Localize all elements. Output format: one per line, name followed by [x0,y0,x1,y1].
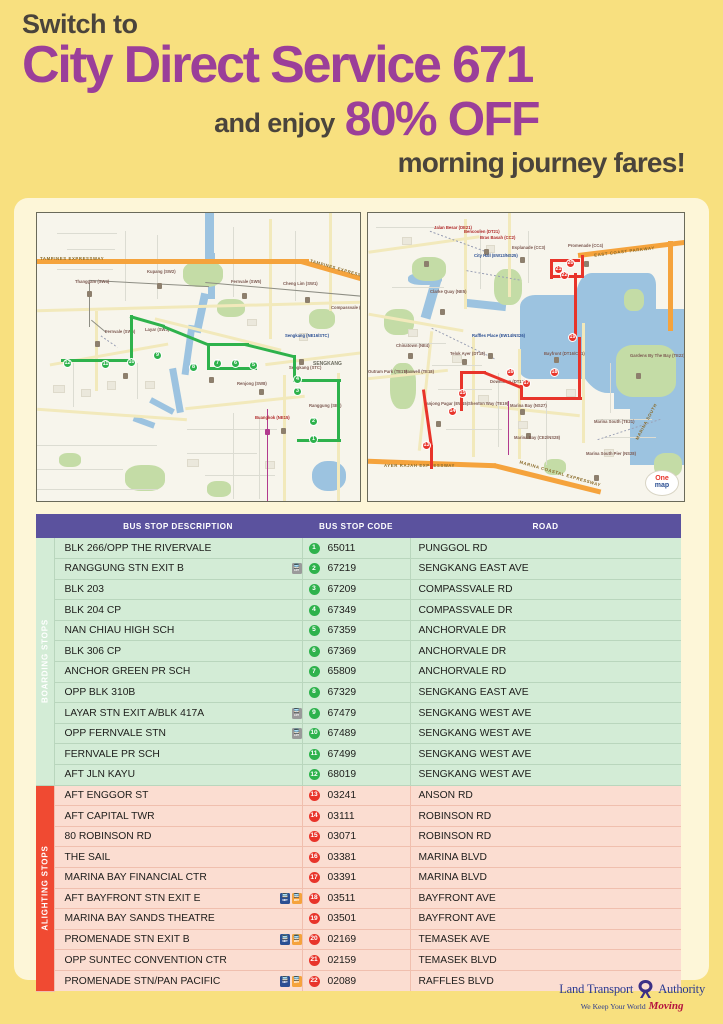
cell-bus-stop-code: 467349 [302,600,410,621]
cell-bus-stop-description: AFT CAPITAL TWR [54,806,302,827]
bus-stop-code-text: 03511 [328,893,356,904]
bus-stop-code-text: 68019 [328,769,357,780]
bus-stop-description-text: PROMENADE STN EXIT B [65,934,277,945]
maps-container: TAMPINES EXPRESSWAY TAMPINES EXPRESSWAY [36,212,687,502]
lrt-station-icon: 🚍LRT [292,563,302,574]
bus-stop-description-text: BLK 203 [65,584,302,595]
cell-bus-stop-description: AFT JLN KAYU [54,765,302,786]
stop-number-badge: 4 [309,605,320,616]
map-marker-19[interactable]: 19 [568,333,577,342]
table-body: BOARDING STOPSBLK 266/OPP THE RIVERVALE1… [36,538,681,991]
stop-number-badge: 8 [309,687,320,698]
table-row[interactable]: BLK 204 CP467349COMPASSVALE DR [36,600,681,621]
bus-stop-description-text: 80 ROBINSON RD [65,831,302,842]
table-row[interactable]: FERNVALE PR SCH1167499SENGKANG WEST AVE [36,744,681,765]
map-left-station-buangkok: Buangkok (NE15) [255,415,290,420]
map-marker-15[interactable]: 15 [458,389,467,398]
cell-bus-stop-description: PROMENADE STN/PAN PACIFIC🚍MRT🚍MRT [54,970,302,991]
onemap-logo-line-2: map [655,483,669,490]
cell-road: ROBINSON RD [410,826,681,847]
map-base-left: TAMPINES EXPRESSWAY TAMPINES EXPRESSWAY [37,213,360,501]
bus-stop-description-text: OPP SUNTEC CONVENTION CTR [65,955,302,966]
stop-number-badge: 19 [309,913,320,924]
lta-tagline-script: Moving [649,1000,684,1012]
bus-stop-code-text: 67489 [328,728,357,739]
cell-bus-stop-description: FERNVALE PR SCH [54,744,302,765]
cell-bus-stop-description: BLK 203 [54,579,302,600]
lta-name-right: Authority [658,982,705,997]
cell-road: ANCHORVALE RD [410,662,681,683]
header-bus-stop-description: BUS STOP DESCRIPTION [54,514,302,538]
map-left-station-sengkang: Sengkang (NE16/STC) [285,333,329,338]
bus-stop-description-text: ANCHOR GREEN PR SCH [65,666,302,677]
map-marker-13[interactable]: 13 [422,441,431,450]
cell-bus-stop-code: 1703391 [302,868,410,889]
cell-road: SENGKANG WEST AVE [410,744,681,765]
stop-number-badge: 3 [309,584,320,595]
bus-stop-code-text: 03381 [328,852,357,863]
map-marker-1[interactable]: 1 [309,435,318,444]
map-marker-14[interactable]: 14 [448,407,457,416]
table-row[interactable]: OPP FERNVALE STN🚍LRT1067489SENGKANG WEST… [36,723,681,744]
map-left-station-thanggam: Thanggam (SW4) [75,279,109,284]
map-marker-20[interactable]: 20 [566,259,575,268]
map-marker-10[interactable]: 10 [127,358,136,367]
cell-bus-stop-code: 1403111 [302,806,410,827]
cell-bus-stop-code: 2202089 [302,970,410,991]
table-row[interactable]: 80 ROBINSON RD1503071ROBINSON RD [36,826,681,847]
map-right-station-shenton-way: Shenton Way (TE19) [468,401,508,406]
cell-bus-stop-code: 765809 [302,662,410,683]
table-row[interactable]: OPP SUNTEC CONVENTION CTR2102159TEMASEK … [36,950,681,971]
cell-bus-stop-description: BLK 266/OPP THE RIVERVALE [54,538,302,559]
stop-number-badge: 11 [309,749,320,760]
bus-stop-code-text: 67219 [328,563,357,574]
headline-service-title: City Direct Service 671 [22,39,701,91]
ccl-station-icon: 🚍MRT [292,976,302,987]
map-alighting-marina-bay[interactable]: EAST COAST PARKWAY AYER RAJAH EXPRESSWAY… [367,212,685,502]
map-right-station-maxwell: Maxwell (TE18) [404,369,434,374]
cell-road: ROBINSON RD [410,806,681,827]
map-marker-5[interactable]: 5 [249,361,258,370]
stop-number-badge: 14 [309,811,320,822]
stop-number-badge: 18 [309,893,320,904]
cell-bus-stop-code: 367209 [302,579,410,600]
table-row[interactable]: BOARDING STOPSBLK 266/OPP THE RIVERVALE1… [36,538,681,559]
bus-stop-code-text: 02159 [328,955,357,966]
bus-stop-code-text: 03391 [328,872,357,883]
map-left-station-cheng-lim: Cheng Lim (SW1) [283,281,318,286]
map-marker-8[interactable]: 8 [189,363,198,372]
map-right-station-bencoolen: Bencoolen (DT21) [464,229,500,234]
stop-number-badge: 12 [309,769,320,780]
map-right-station-marina-bay-2: Marina Bay (CE2/NS28) [514,435,560,440]
mrt-station-icon: 🚍MRT [280,893,290,904]
header-road: ROAD [410,514,681,538]
map-marker-4[interactable]: 4 [293,375,302,384]
map-marker-6[interactable]: 6 [231,359,240,368]
bus-stop-code-text: 67499 [328,749,357,760]
cell-road: ANSON RD [410,785,681,806]
cell-bus-stop-code: 967479 [302,703,410,724]
map-right-station-outram-park: Outram Park (TE17) [368,369,407,374]
bus-stop-description-text: BLK 306 CP [65,646,302,657]
cell-bus-stop-description: RANGGUNG STN EXIT B🚍LRT [54,559,302,580]
map-marker-17[interactable]: 17 [522,379,531,388]
bus-stop-code-text: 67349 [328,605,357,616]
cell-road: MARINA BLVD [410,868,681,889]
bus-stop-code-text: 67329 [328,687,357,698]
rail-icons: 🚍LRT [292,708,302,719]
cell-bus-stop-code: 1268019 [302,765,410,786]
cell-bus-stop-description: OPP SUNTEC CONVENTION CTR [54,950,302,971]
group-band-board: BOARDING STOPS [36,538,54,785]
bus-stop-description-text: AFT JLN KAYU [65,769,302,780]
map-right-station-city-hall: City Hall (EW13/NS25) [474,253,518,258]
stop-number-badge: 7 [309,666,320,677]
lrt-station-icon: 🚍LRT [292,728,302,739]
table-row[interactable]: AFT BAYFRONT STN EXIT E🚍MRT🚍MRT1803511BA… [36,888,681,909]
table-row[interactable]: AFT CAPITAL TWR1403111ROBINSON RD [36,806,681,827]
bus-stop-code-text: 67209 [328,584,357,595]
map-right-station-clarke-quay: Clarke Quay (NE5) [430,289,467,294]
map-marker-16[interactable]: 16 [506,368,515,377]
bus-stop-description-text: MARINA BAY FINANCIAL CTR [65,872,302,883]
cell-bus-stop-code: 1303241 [302,785,410,806]
cell-bus-stop-description: THE SAIL [54,847,302,868]
map-right-station-marina-south: Marina South (TE21) [594,419,634,424]
cell-bus-stop-code: 1903501 [302,909,410,930]
group-band-alight: ALIGHTING STOPS [36,785,54,991]
headline-discount: 80% OFF [345,97,539,143]
map-left-expressway-label-1: TAMPINES EXPRESSWAY [40,256,104,261]
group-band-label: ALIGHTING STOPS [40,845,49,930]
cell-road: SENGKANG EAST AVE [410,682,681,703]
cell-bus-stop-code: 165011 [302,538,410,559]
cell-road: COMPASSVALE DR [410,600,681,621]
cell-bus-stop-code: 567359 [302,620,410,641]
map-right-station-chinatown: Chinatown (NE4) [396,343,430,348]
map-right-station-promenade: Promenade (CC4) [568,243,603,248]
stop-number-badge: 2 [309,563,320,574]
map-marker-11[interactable]: 11 [101,360,110,369]
table-row[interactable]: NAN CHIAU HIGH SCH567359ANCHORVALE DR [36,620,681,641]
cell-bus-stop-description: BLK 306 CP [54,641,302,662]
map-marker-12[interactable]: 12 [63,359,72,368]
cell-bus-stop-description: AFT ENGGOR ST [54,785,302,806]
header-bus-stop-code: BUS STOP CODE [302,514,410,538]
bus-stop-description-text: BLK 204 CP [65,605,302,616]
headline-line-1: Switch to [22,10,701,38]
bus-stop-description-text: OPP BLK 310B [65,687,302,698]
cell-bus-stop-code: 2102159 [302,950,410,971]
map-right-station-raffles-place: Raffles Place (EW14/NS26) [472,333,525,338]
ccl-station-icon: 🚍MRT [292,893,302,904]
bus-stop-code-text: 65011 [328,543,356,554]
cell-bus-stop-description: MARINA BAY FINANCIAL CTR [54,868,302,889]
bus-stop-description-text: BLK 266/OPP THE RIVERVALE [65,543,302,554]
stop-number-badge: 17 [309,872,320,883]
rail-icons: 🚍MRT🚍MRT [280,976,302,987]
cell-bus-stop-description: NAN CHIAU HIGH SCH [54,620,302,641]
cell-road: SENGKANG WEST AVE [410,703,681,724]
cell-road: SENGKANG EAST AVE [410,559,681,580]
cell-bus-stop-code: 1167499 [302,744,410,765]
map-marker-7[interactable]: 7 [213,359,222,368]
table-row[interactable]: AFT JLN KAYU1268019SENGKANG WEST AVE [36,765,681,786]
table-header-row: BUS STOP DESCRIPTION BUS STOP CODE ROAD [36,514,681,538]
bus-stop-table-wrapper: BUS STOP DESCRIPTION BUS STOP CODE ROAD … [36,514,681,992]
table-row[interactable]: BLK 203367209COMPASSVALE RD [36,579,681,600]
lta-ribbon-icon [637,979,654,999]
rail-icons: 🚍LRT [292,728,302,739]
bus-stop-description-text: THE SAIL [65,852,302,863]
stop-number-badge: 20 [309,934,320,945]
stop-number-badge: 5 [309,625,320,636]
map-base-right: EAST COAST PARKWAY AYER RAJAH EXPRESSWAY… [368,213,684,501]
bus-stop-description-text: RANGGUNG STN EXIT B [65,563,288,574]
stop-number-badge: 1 [309,543,320,554]
lta-logo-row: Land Transport Authority [559,979,705,999]
cell-bus-stop-code: 1067489 [302,723,410,744]
map-left-station-renjong: Renjong (SW8) [237,381,267,386]
rail-icons: 🚍LRT [292,563,302,574]
bus-stop-code-text: 67479 [328,708,357,719]
cell-bus-stop-code: 867329 [302,682,410,703]
stop-number-badge: 9 [309,708,320,719]
rail-icons: 🚍MRT🚍MRT [280,893,302,904]
table-row[interactable]: ALIGHTING STOPSAFT ENGGOR ST1303241ANSON… [36,785,681,806]
map-right-station-gardens-by-the-bay: Gardens By The Bay (TE22) [630,353,685,358]
cell-bus-stop-description: 80 ROBINSON RD [54,826,302,847]
header-spacer [36,514,54,538]
bus-stop-code-text: 67359 [328,625,357,636]
onemap-watermark: One map [645,470,679,496]
bus-stop-code-text: 03501 [328,913,357,924]
lta-tagline: We Keep Your World Moving [581,1000,684,1012]
bus-stop-code-text: 03111 [328,811,355,822]
bus-stop-code-text: 67369 [328,646,357,657]
bus-stop-code-text: 65809 [328,666,357,677]
cell-bus-stop-code: 1503071 [302,826,410,847]
table-row[interactable]: RANGGUNG STN EXIT B🚍LRT267219SENGKANG EA… [36,559,681,580]
map-marker-3[interactable]: 3 [293,387,302,396]
map-left-station-compassvale: Compassvale (SE1) [331,305,361,310]
cell-bus-stop-code: 1603381 [302,847,410,868]
cell-bus-stop-description: MARINA BAY SANDS THEATRE [54,909,302,930]
stop-number-badge: 10 [309,728,320,739]
bus-stop-description-text: OPP FERNVALE STN [65,728,288,739]
map-marker-18[interactable]: 18 [550,368,559,377]
map-boarding-sengkang[interactable]: TAMPINES EXPRESSWAY TAMPINES EXPRESSWAY [36,212,361,502]
lta-name-left: Land Transport [559,982,633,997]
bus-stop-description-text: NAN CHIAU HIGH SCH [65,625,302,636]
cell-bus-stop-code: 1803511 [302,888,410,909]
bus-stop-code-text: 03071 [328,831,357,842]
map-marker-22[interactable]: 22 [560,271,569,280]
map-right-expressway-aye: AYER RAJAH EXPRESSWAY [384,463,455,468]
cell-bus-stop-description: BLK 204 CP [54,600,302,621]
stop-number-badge: 13 [309,790,320,801]
stop-number-badge: 21 [309,955,320,966]
map-right-station-bras-basah: Bras Basah (CC2) [480,235,515,240]
table-row[interactable]: THE SAIL1603381MARINA BLVD [36,847,681,868]
headline-line-4: morning journey fares! [22,147,701,179]
table-head: BUS STOP DESCRIPTION BUS STOP CODE ROAD [36,514,681,538]
cell-road: ANCHORVALE DR [410,641,681,662]
map-marker-9[interactable]: 9 [153,351,162,360]
table-row[interactable]: BLK 306 CP667369ANCHORVALE DR [36,641,681,662]
map-left-station-fernvale: Fernvale (SW5) [231,279,261,284]
group-band-label: BOARDING STOPS [40,619,49,703]
cell-road: MARINA BLVD [410,847,681,868]
table-row[interactable]: MARINA BAY SANDS THEATRE1903501BAYFRONT … [36,909,681,930]
mrt-station-icon: 🚍MRT [280,976,290,987]
map-marker-2[interactable]: 2 [309,417,318,426]
lta-tagline-plain: We Keep Your World [581,1002,646,1011]
bus-stop-description-text: AFT BAYFRONT STN EXIT E [65,893,277,904]
cell-road: COMPASSVALE RD [410,579,681,600]
cell-bus-stop-description: PROMENADE STN EXIT B🚍MRT🚍MRT [54,929,302,950]
cell-road: TEMASEK AVE [410,929,681,950]
bus-stop-code-text: 02169 [328,934,357,945]
cell-road: BAYFRONT AVE [410,888,681,909]
lta-logo: Land Transport Authority We Keep Your Wo… [559,979,705,1012]
lrt-station-icon: 🚍LRT [292,708,302,719]
bus-stop-description-text: PROMENADE STN/PAN PACIFIC [65,976,277,987]
mrt-station-icon: 🚍MRT [280,934,290,945]
cell-road: ANCHORVALE DR [410,620,681,641]
cell-bus-stop-description: ANCHOR GREEN PR SCH [54,662,302,683]
table-row[interactable]: OPP BLK 310B867329SENGKANG EAST AVE [36,682,681,703]
cell-bus-stop-description: AFT BAYFRONT STN EXIT E🚍MRT🚍MRT [54,888,302,909]
bus-stop-description-text: AFT CAPITAL TWR [65,811,302,822]
map-right-station-telok-ayer: Telok Ayer (DT18) [450,351,485,356]
map-left-station-kupang: Kupang (SW2) [147,269,176,274]
stop-number-badge: 22 [309,976,320,987]
stop-number-badge: 6 [309,646,320,657]
map-left-region-label: SENGKANG [313,361,342,367]
map-right-station-marina-south-pier: Marina South Pier (NS28) [586,451,636,456]
map-right-station-marina-bay: Marina Bay (NS27) [510,403,547,408]
stop-number-badge: 15 [309,831,320,842]
cell-bus-stop-description: LAYAR STN EXIT A/BLK 417A🚍LRT [54,703,302,724]
cell-bus-stop-description: OPP BLK 310B [54,682,302,703]
poster-header: Switch to City Direct Service 671 and en… [0,0,723,179]
bus-stop-table: BUS STOP DESCRIPTION BUS STOP CODE ROAD … [36,514,681,992]
table-row[interactable]: LAYAR STN EXIT A/BLK 417A🚍LRT967479SENGK… [36,703,681,724]
headline-discount-row: and enjoy 80% OFF [22,97,701,143]
bus-stop-description-text: LAYAR STN EXIT A/BLK 417A [65,708,288,719]
bus-stop-description-text: AFT ENGGOR ST [65,790,302,801]
bus-stop-description-text: FERNVALE PR SCH [65,749,302,760]
rail-icons: 🚍MRT🚍MRT [280,934,302,945]
table-row[interactable]: MARINA BAY FINANCIAL CTR1703391MARINA BL… [36,868,681,889]
ccl-station-icon: 🚍MRT [292,934,302,945]
cell-road: PUNGGOL RD [410,538,681,559]
cell-road: SENGKANG WEST AVE [410,765,681,786]
bus-stop-code-text: 03241 [328,790,357,801]
cell-bus-stop-description: OPP FERNVALE STN🚍LRT [54,723,302,744]
bus-stop-description-text: MARINA BAY SANDS THEATRE [65,913,302,924]
cell-bus-stop-code: 2002169 [302,929,410,950]
cell-bus-stop-code: 267219 [302,559,410,580]
cell-road: TEMASEK BLVD [410,950,681,971]
bus-stop-code-text: 02089 [328,976,357,987]
stop-number-badge: 16 [309,852,320,863]
cell-road: SENGKANG WEST AVE [410,723,681,744]
headline-and-enjoy: and enjoy [214,108,335,143]
cell-bus-stop-code: 667369 [302,641,410,662]
cell-road: BAYFRONT AVE [410,909,681,930]
table-row[interactable]: ANCHOR GREEN PR SCH765809ANCHORVALE RD [36,662,681,683]
table-row[interactable]: PROMENADE STN EXIT B🚍MRT🚍MRT2002169TEMAS… [36,929,681,950]
map-right-station-esplanade: Esplanade (CC3) [512,245,545,250]
